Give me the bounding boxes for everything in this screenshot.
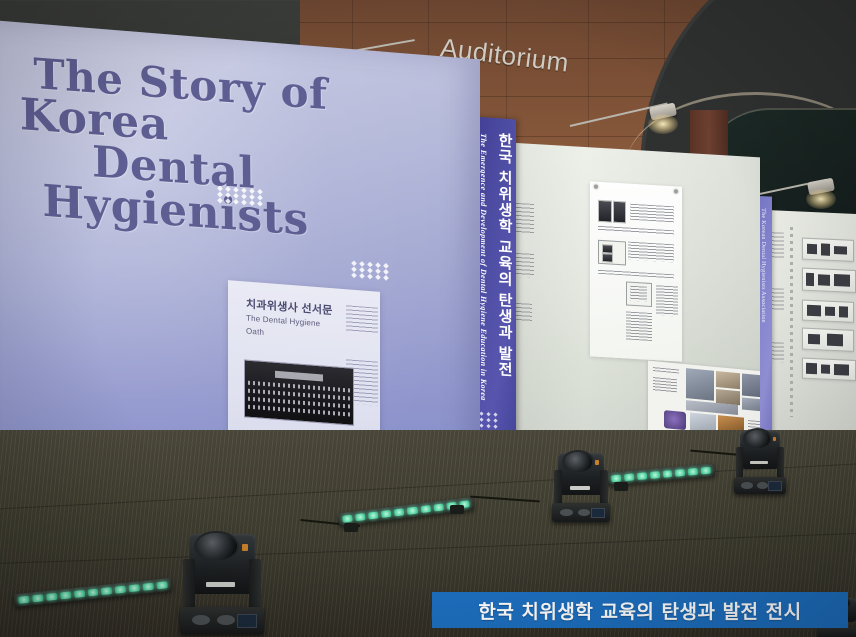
diamond-dot-pattern-icon [352,261,390,280]
purple-artifact-photo [664,410,686,430]
right-exhibit-wall [764,210,856,454]
caption-text: 한국 치위생학 교육의 탄생과 발전 전시 [478,597,801,624]
artifact-card [802,328,854,352]
center-exhibit-wall [510,143,760,458]
portrait-photo [613,201,626,224]
oath-body-text-kr [346,305,378,333]
document-frame [598,240,626,266]
exhibition-photo: Auditorium 대한치과위생사협회 The Korean Denta [0,0,856,637]
portrait-photo [598,200,612,223]
document-frame [626,281,652,307]
spotlight-glow [648,114,678,134]
spotlight-glow [806,189,836,209]
artifact-card [802,300,854,323]
timeline-rail [790,227,793,417]
led-bar-foot [614,482,628,491]
artifact-card [802,238,854,262]
caption-bar: 한국 치위생학 교육의 탄생과 발전 전시 [432,592,848,628]
historical-group-photo [244,359,354,425]
exhibition-title: The Story of Korea Dental Hygienists [19,52,400,249]
display-panel-photos [590,181,682,361]
artifact-card [802,268,856,293]
panel1-title-kr: 한국 치위생학 교육의 탄생과 발전 [494,132,515,378]
panel2-title-en: The Korean Dental Hygienists Association [760,208,766,323]
moving-head-light [552,450,610,522]
led-bar-foot [344,523,358,532]
moving-head-light [180,530,264,634]
led-bar-foot [450,505,464,514]
moving-head-light [734,428,786,494]
artifact-card [802,358,856,381]
